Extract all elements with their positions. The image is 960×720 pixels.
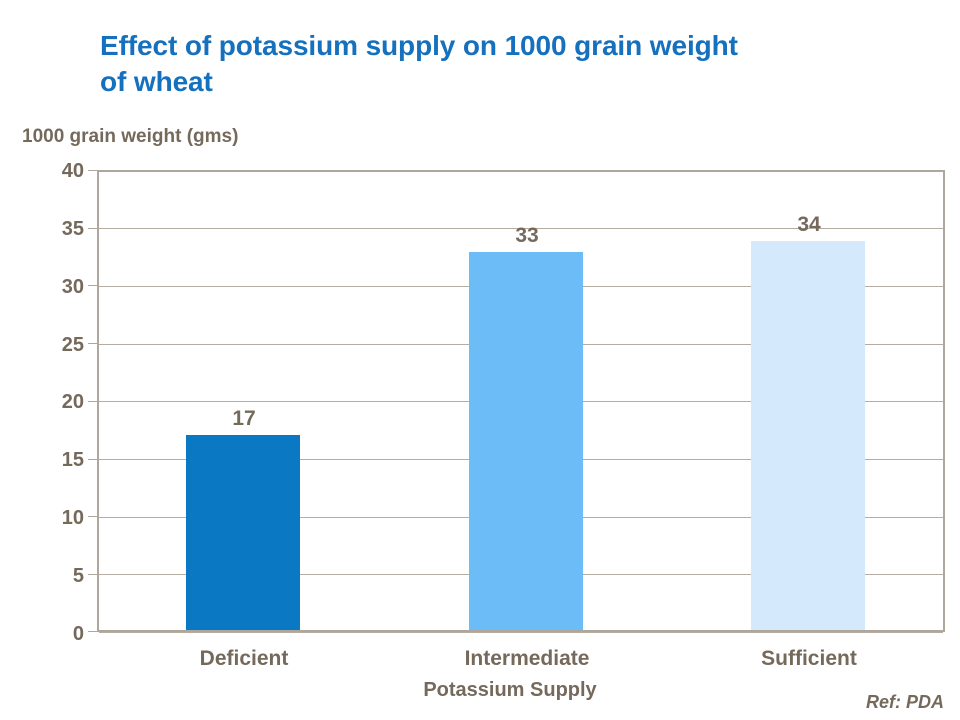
x-category-label-intermediate: Intermediate bbox=[414, 648, 640, 669]
y-tick-label: 15 bbox=[38, 450, 84, 470]
y-tick-mark bbox=[88, 459, 97, 460]
y-tick-label: 20 bbox=[38, 392, 84, 412]
gridline bbox=[99, 632, 943, 633]
y-tick-label: 30 bbox=[38, 277, 84, 297]
y-tick-mark bbox=[88, 343, 97, 344]
y-tick-label: 5 bbox=[38, 566, 84, 586]
y-tick-label: 35 bbox=[38, 219, 84, 239]
chart-title: Effect of potassium supply on 1000 grain… bbox=[100, 28, 890, 100]
y-tick-label: 0 bbox=[38, 624, 84, 644]
y-axis-tick-labels: 40 35 30 25 20 15 10 5 0 bbox=[0, 0, 84, 720]
y-tick-mark bbox=[88, 285, 97, 286]
bar-value-label: 17 bbox=[187, 408, 301, 429]
bar-value-label: 33 bbox=[470, 225, 584, 246]
y-tick-label: 40 bbox=[38, 161, 84, 181]
bar-value-label: 34 bbox=[752, 214, 866, 235]
y-tick-mark bbox=[88, 401, 97, 402]
x-category-label-deficient: Deficient bbox=[131, 648, 357, 669]
y-tick-mark bbox=[88, 228, 97, 229]
y-tick-label: 10 bbox=[38, 508, 84, 528]
x-category-label-sufficient: Sufficient bbox=[696, 648, 922, 669]
bar-intermediate[interactable] bbox=[469, 252, 583, 630]
y-tick-mark bbox=[88, 631, 97, 632]
y-tick-mark bbox=[88, 516, 97, 517]
y-tick-mark bbox=[88, 574, 97, 575]
y-tick-label: 25 bbox=[38, 335, 84, 355]
y-tick-mark bbox=[88, 170, 97, 171]
reference-annotation: Ref: PDA bbox=[866, 692, 944, 713]
bar-sufficient[interactable] bbox=[751, 241, 865, 630]
bar-deficient[interactable] bbox=[186, 435, 300, 630]
x-axis-title: Potassium Supply bbox=[280, 679, 740, 702]
